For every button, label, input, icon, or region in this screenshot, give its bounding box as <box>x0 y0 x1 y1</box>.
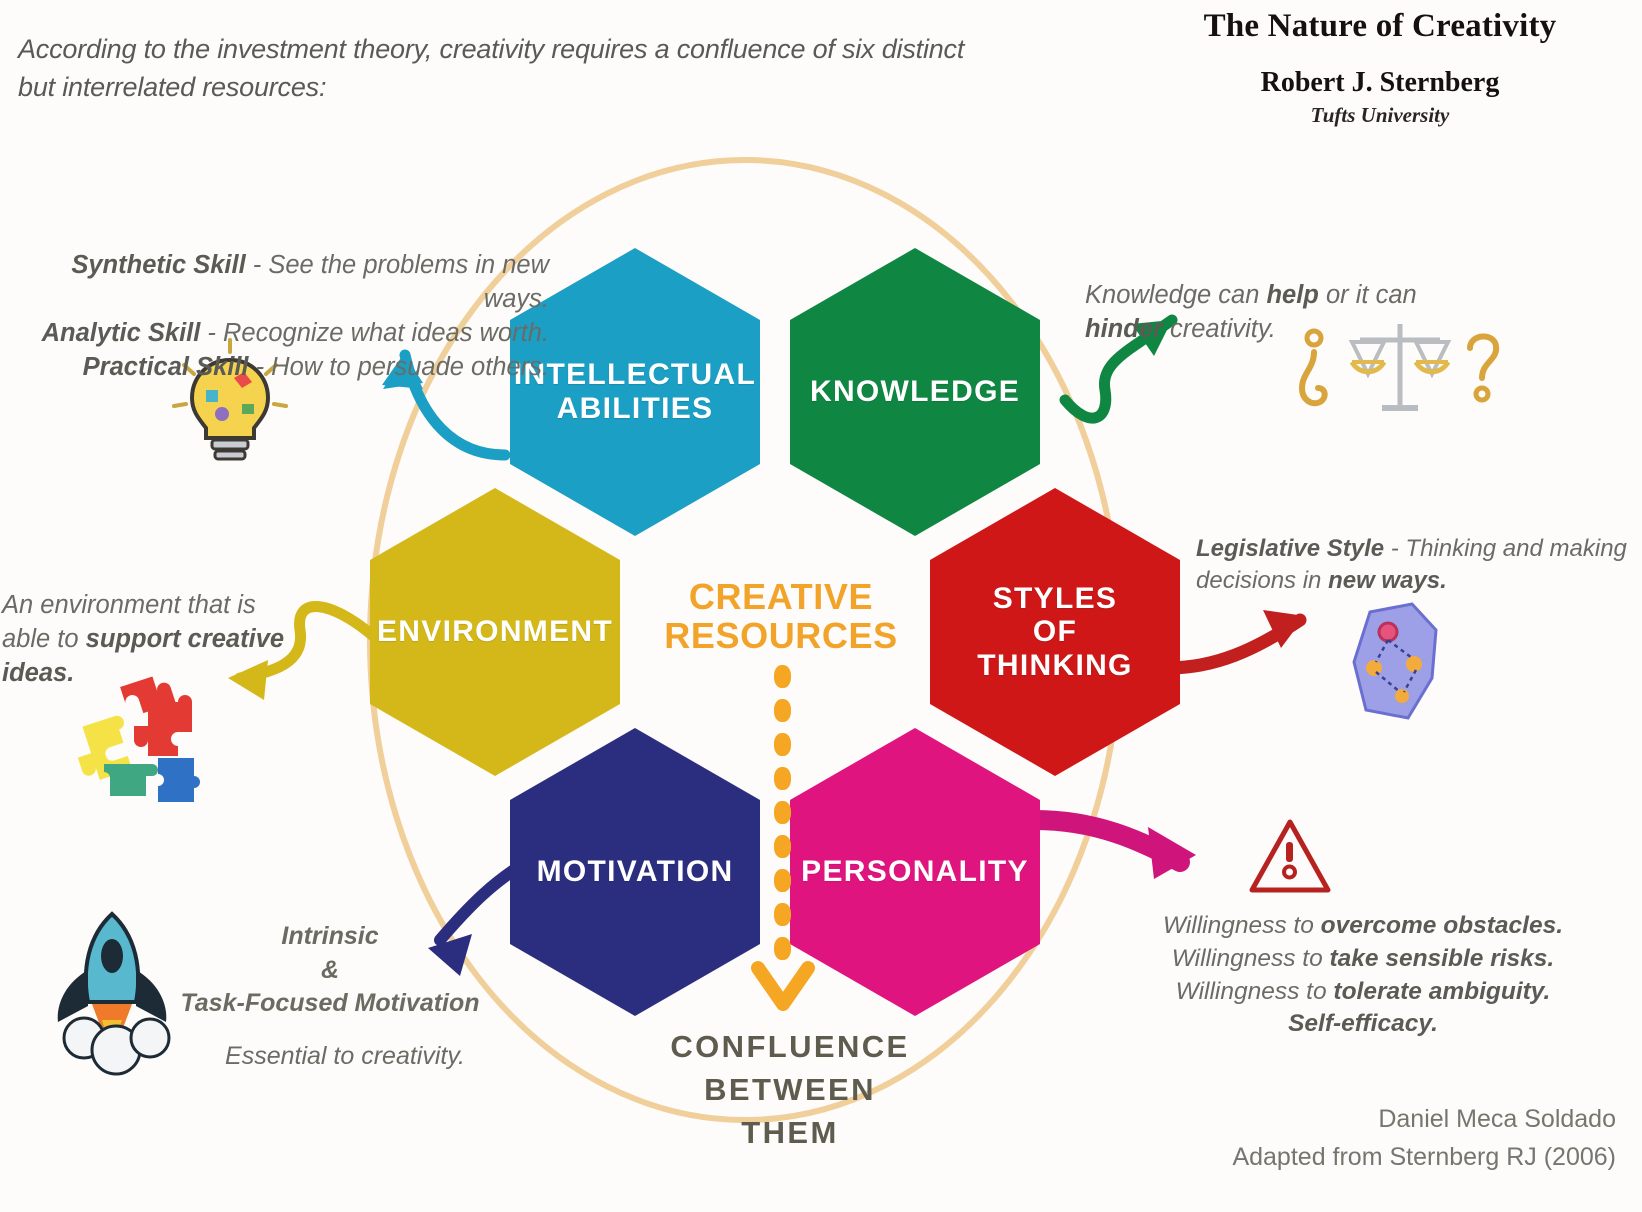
hex-label-line3: THINKING <box>977 649 1132 682</box>
anno-rest: - How to persuade others. <box>249 353 549 381</box>
anno-bold: Legislative Style <box>1196 535 1384 562</box>
anno-rest: Knowledge can <box>1085 281 1266 309</box>
hex-label-line1: KNOWLEDGE <box>810 375 1020 409</box>
hex-label-line1: STYLES <box>993 582 1118 615</box>
credit-author: Daniel Meca Soldado <box>1232 1101 1616 1139</box>
anno-bold: tolerate ambiguity. <box>1333 978 1550 1005</box>
confluence-line3: THEM <box>630 1112 950 1155</box>
annotation-personality: Willingness to overcome obstacles. Willi… <box>1084 910 1642 1041</box>
confluence-label: CONFLUENCE BETWEEN THEM <box>630 1026 950 1154</box>
dotted-connector <box>770 665 794 965</box>
anno-rest: - See the problems in new ways. <box>246 251 549 313</box>
anno-line: Task-Focused Motivation <box>150 987 510 1021</box>
hexagon-personality[interactable]: PERSONALITY <box>790 728 1040 1016</box>
anno-bold: help <box>1266 281 1318 309</box>
infographic-canvas: According to the investment theory, crea… <box>0 0 1642 1212</box>
anno-line: Intrinsic <box>150 920 510 954</box>
hex-label-line2: ABILITIES <box>557 392 714 425</box>
anno-rest: or it can <box>1319 281 1417 309</box>
hexagon-styles-of-thinking[interactable]: STYLESOFTHINKING <box>930 488 1180 776</box>
confluence-line2: BETWEEN <box>630 1069 950 1112</box>
annotation-motivation: Intrinsic & Task-Focused Motivation <box>150 920 510 1021</box>
center-label-line2: RESOURCES <box>650 617 912 656</box>
anno-bold: overcome obstacles. <box>1321 912 1563 939</box>
center-label: CREATIVE RESOURCES <box>650 578 912 656</box>
annotation-environment: An environment that is able to support c… <box>2 588 290 690</box>
anno-bold: Self-efficacy. <box>1288 1010 1438 1037</box>
hexagon-environment[interactable]: ENVIRONMENT <box>370 488 620 776</box>
annotation-styles-of-thinking: Legislative Style - Thinking and making … <box>1196 533 1642 597</box>
anno-rest: - Recognize what ideas worth. <box>200 319 549 347</box>
anno-bold: new ways. <box>1328 567 1447 594</box>
hex-label-line2: OF <box>1033 615 1077 648</box>
anno-bold: Practical Skill <box>83 353 249 381</box>
credit-source: Adapted from Sternberg RJ (2006) <box>1232 1139 1616 1177</box>
anno-bold: Analytic Skill <box>42 319 201 347</box>
anno-rest: Willingness to <box>1172 945 1330 972</box>
hex-label-line1: ENVIRONMENT <box>377 615 613 649</box>
anno-rest: Willingness to <box>1176 978 1334 1005</box>
anno-bold: take sensible risks. <box>1330 945 1555 972</box>
annotation-knowledge: Knowledge can help or it can hinder crea… <box>1085 278 1465 346</box>
anno-rest: creativity. <box>1163 315 1276 343</box>
anno-bold: Synthetic Skill <box>71 251 245 279</box>
annotation-motivation-secondary: Essential to creativity. <box>180 1040 510 1074</box>
arrow-down-icon <box>750 960 816 1022</box>
hexagon-knowledge[interactable]: KNOWLEDGE <box>790 248 1040 536</box>
hex-label-line1: MOTIVATION <box>537 855 734 889</box>
anno-rest: Willingness to <box>1163 912 1321 939</box>
center-label-line1: CREATIVE <box>650 578 912 617</box>
annotation-intellectual-abilities: Synthetic Skill - See the problems in ne… <box>4 248 549 385</box>
anno-bold: hinder <box>1085 315 1163 343</box>
hexagon-motivation[interactable]: MOTIVATION <box>510 728 760 1016</box>
confluence-line1: CONFLUENCE <box>630 1026 950 1069</box>
hex-label-line1: PERSONALITY <box>801 855 1029 889</box>
hex-label-line1: INTELLECTUAL <box>514 358 756 391</box>
anno-line: & <box>150 954 510 988</box>
credit-block: Daniel Meca Soldado Adapted from Sternbe… <box>1232 1101 1616 1176</box>
